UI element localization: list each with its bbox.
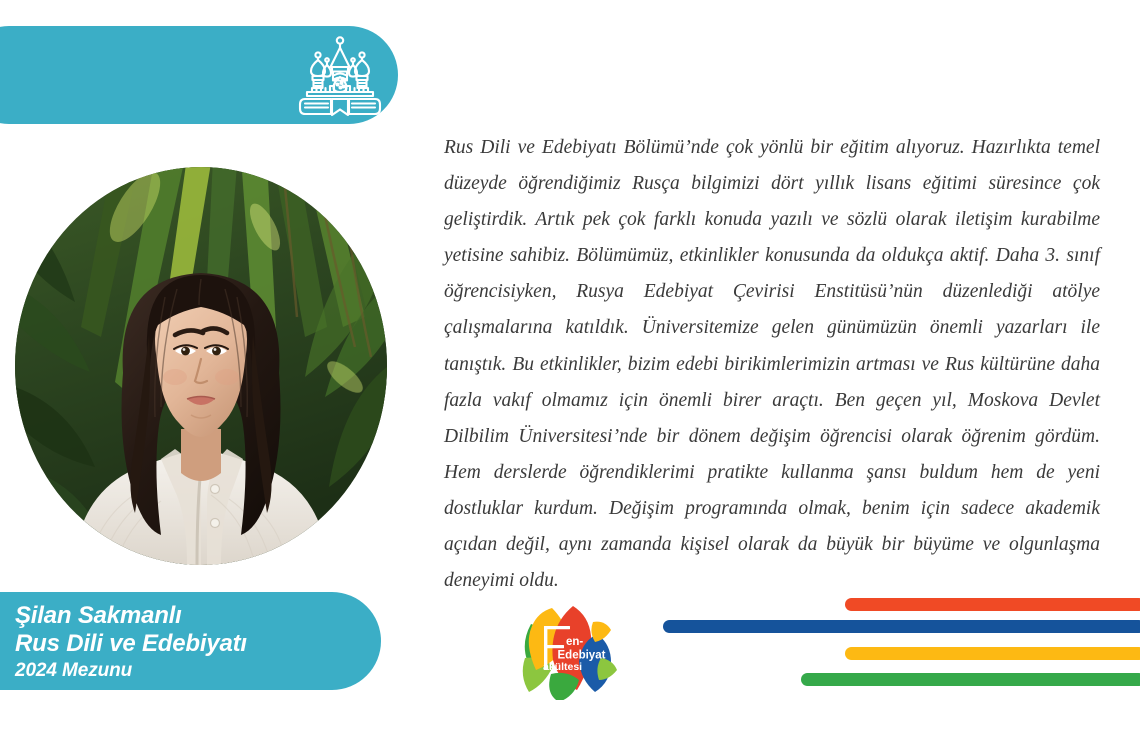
testimonial-text: Rus Dili ve Edebiyatı Bölümü’nde çok yön… <box>444 130 1100 599</box>
accent-bar-blue <box>663 620 1140 633</box>
alumni-testimonial-card: Şilan Sakmanlı Rus Dili ve Edebiyatı 202… <box>0 0 1140 740</box>
alumni-name: Şilan Sakmanlı <box>15 602 365 629</box>
name-banner-text: Şilan Sakmanlı Rus Dili ve Edebiyatı 202… <box>15 602 365 684</box>
alumni-department: Rus Dili ve Edebiyatı <box>15 629 365 658</box>
saint-basils-cathedral-on-book-icon <box>296 35 384 117</box>
accent-bar-amber <box>845 647 1140 660</box>
alumni-portrait-photo <box>15 167 387 565</box>
logo-text-en: en- <box>566 636 583 648</box>
fen-edebiyat-fakultesi-logo: en- Edebiyat akültesi <box>513 600 625 700</box>
alumni-graduation: 2024 Mezunu <box>15 658 365 684</box>
logo-text-edebiyat: Edebiyat <box>558 650 606 662</box>
top-banner <box>0 26 398 124</box>
logo-text-fakultesi: akültesi <box>543 661 582 673</box>
accent-bar-green <box>801 673 1140 686</box>
accent-bar-red <box>845 598 1140 611</box>
name-banner: Şilan Sakmanlı Rus Dili ve Edebiyatı 202… <box>0 592 381 690</box>
